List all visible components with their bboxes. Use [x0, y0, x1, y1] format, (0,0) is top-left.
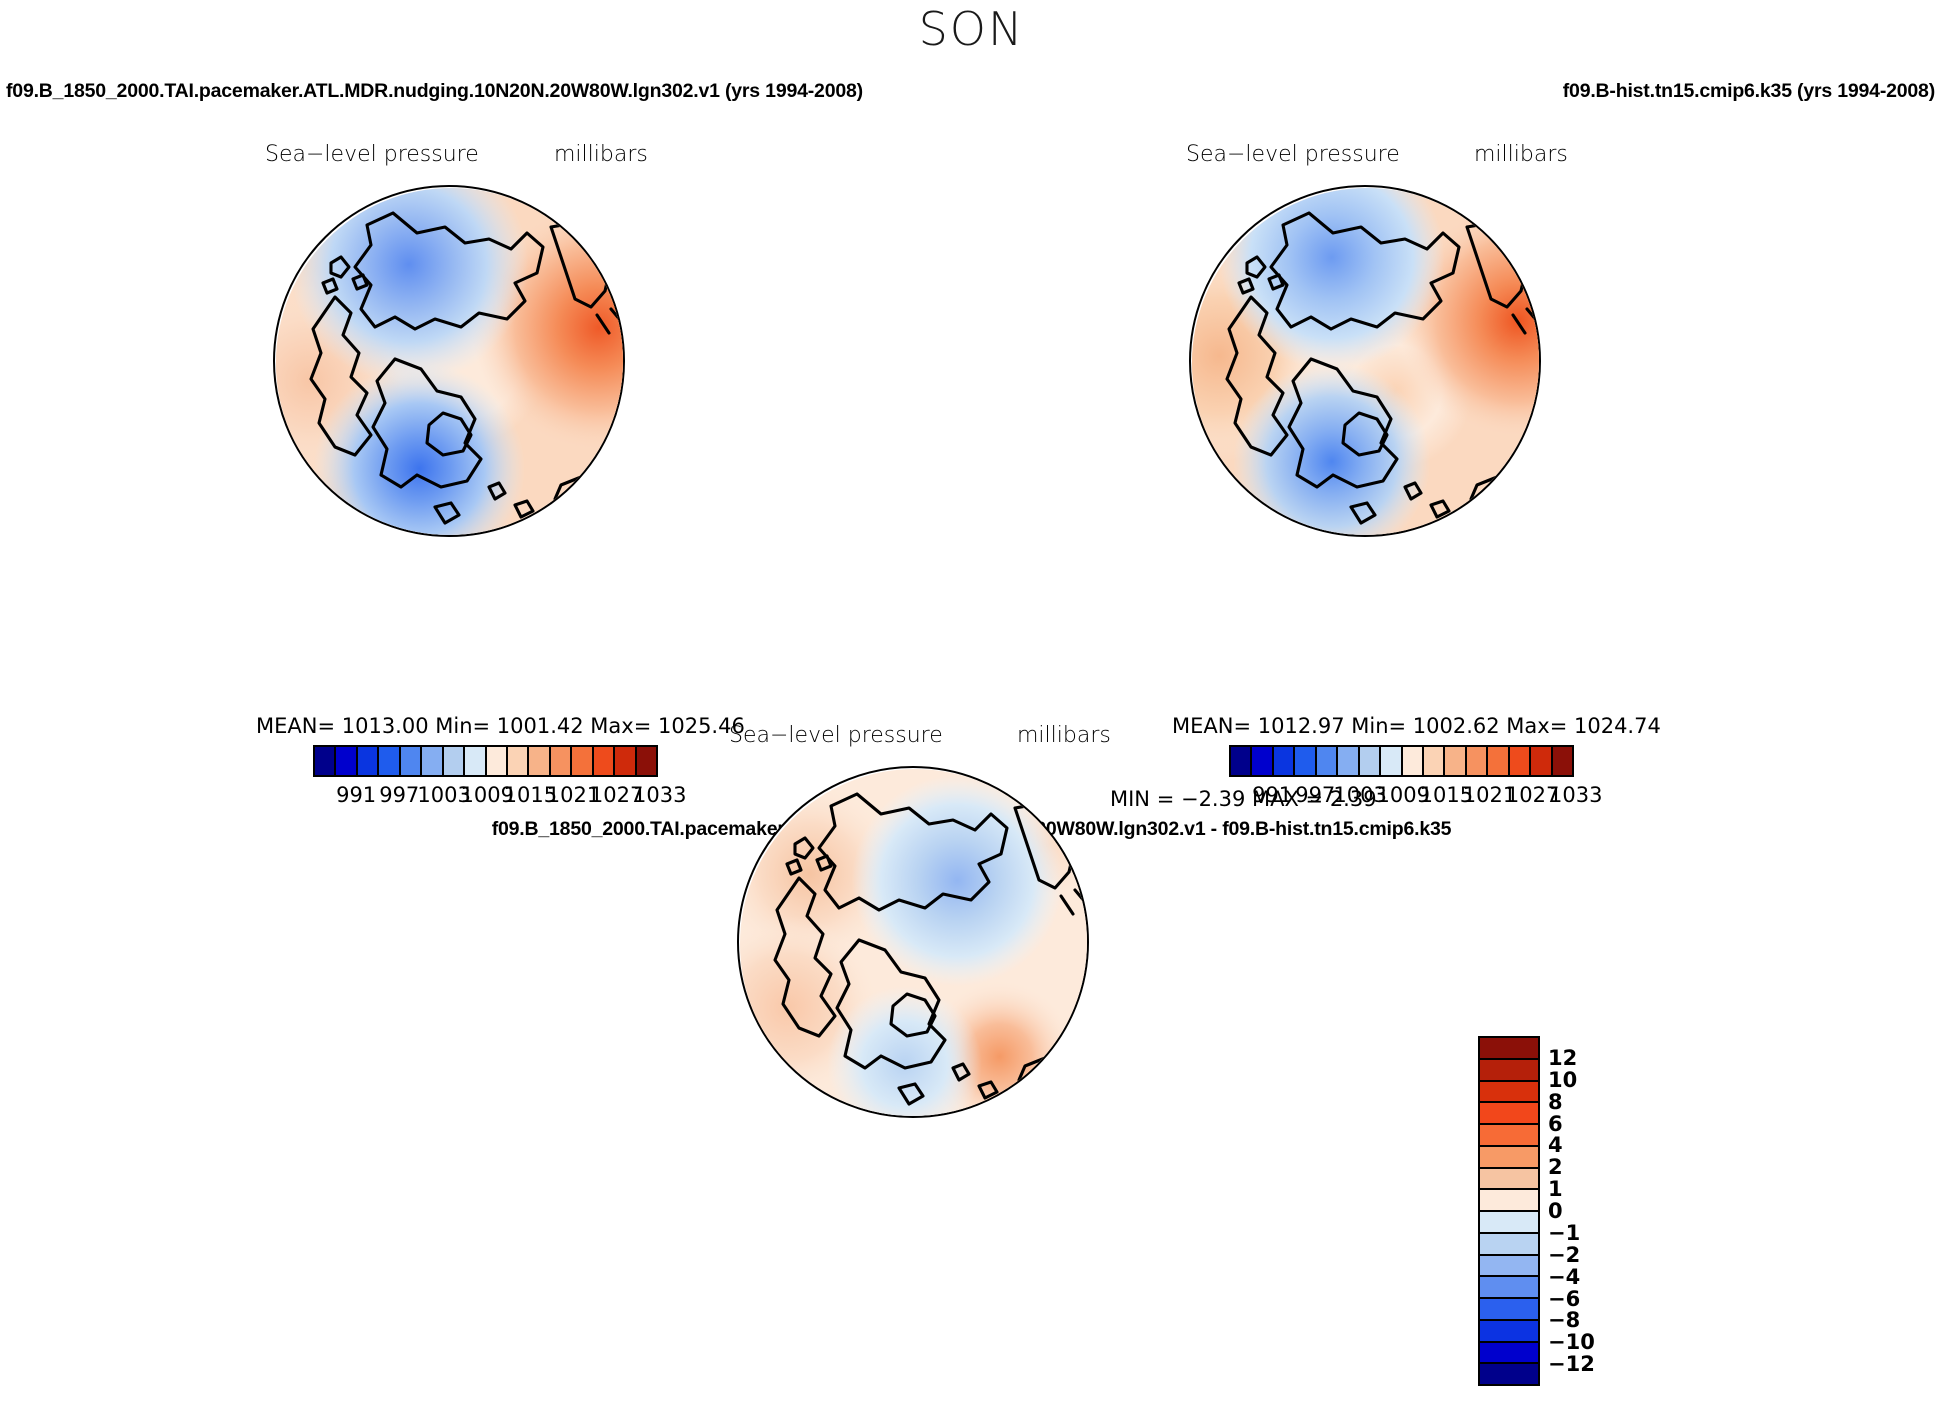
colorbar-cell: [1274, 747, 1295, 775]
colorbar-cell: [315, 747, 336, 775]
colorbar-cell: [358, 747, 379, 775]
colorbar-tick-label: 4: [1548, 1133, 1563, 1157]
colorbar-cell: [572, 747, 593, 775]
colorbar-cell: [1295, 747, 1316, 775]
colorbar-cell: [1338, 747, 1359, 775]
colorbar-tick-label: 1: [1548, 1177, 1563, 1201]
right-panel-title: f09.B-hist.tn15.cmip6.k35 (yrs 1994-2008…: [1563, 80, 1935, 103]
right-polar-map[interactable]: [1189, 185, 1541, 537]
colorbar-tick-label: 8: [1548, 1090, 1563, 1114]
season-title: SON: [0, 2, 1943, 56]
diff-stats-line: MIN = −2.39 MAX = 2.39: [1110, 787, 1377, 811]
colorbar-cell: [594, 747, 615, 775]
diff-units-label: millibars: [1017, 723, 1111, 748]
colorbar-cell: [1231, 747, 1252, 775]
colorbar-cell: [1403, 747, 1424, 775]
colorbar-cell: [1480, 1190, 1538, 1212]
colorbar-cell: [1488, 747, 1509, 775]
right-map-svg: [1191, 187, 1541, 537]
colorbar-cell: [487, 747, 508, 775]
colorbar-cell: [465, 747, 486, 775]
colorbar-cell: [401, 747, 422, 775]
left-polar-map[interactable]: [273, 185, 625, 537]
colorbar-cell: [1480, 1364, 1538, 1384]
colorbar-cell: [1480, 1103, 1538, 1125]
right-field-label: Sea−level pressure: [1186, 142, 1400, 167]
colorbar-cell: [508, 747, 529, 775]
colorbar-cell: [1480, 1321, 1538, 1343]
colorbar-cell: [444, 747, 465, 775]
colorbar-tick-label: 2: [1548, 1155, 1563, 1179]
diff-map-svg: [739, 768, 1089, 1118]
colorbar-tick-label: −1: [1548, 1221, 1580, 1245]
colorbar-tick-label: 10: [1548, 1068, 1577, 1092]
colorbar-cell: [1317, 747, 1338, 775]
colorbar-cell: [1381, 747, 1402, 775]
colorbar-cell: [1480, 1169, 1538, 1191]
colorbar-cell: [615, 747, 636, 775]
colorbar-cell: [1553, 747, 1572, 775]
colorbar-cell: [637, 747, 656, 775]
colorbar-cell: [1480, 1277, 1538, 1299]
left-stats-line: MEAN= 1013.00 Min= 1001.42 Max= 1025.46: [256, 714, 745, 738]
colorbar-cell: [1480, 1343, 1538, 1365]
colorbar-cell: [1480, 1234, 1538, 1256]
diff-colorbar-ticks: 1210864210−1−2−4−6−8−10−12: [1548, 1036, 1638, 1386]
colorbar-cell: [1480, 1147, 1538, 1169]
colorbar-cell: [1480, 1060, 1538, 1082]
colorbar-cell: [1480, 1299, 1538, 1321]
right-stats-line: MEAN= 1012.97 Min= 1002.62 Max= 1024.74: [1172, 714, 1661, 738]
colorbar-tick-label: 1033: [633, 783, 683, 807]
diff-polar-map[interactable]: [737, 766, 1089, 1118]
left-field-label: Sea−level pressure: [265, 142, 479, 167]
colorbar-tick-label: −4: [1548, 1265, 1580, 1289]
colorbar-cell: [529, 747, 550, 775]
colorbar-tick-label: 0: [1548, 1199, 1563, 1223]
colorbar-cell: [422, 747, 443, 775]
diff-colorbar[interactable]: [1478, 1036, 1540, 1386]
colorbar-cell: [379, 747, 400, 775]
right-units-label: millibars: [1474, 142, 1568, 167]
colorbar-cell: [1424, 747, 1445, 775]
colorbar-tick-label: −8: [1548, 1308, 1580, 1332]
colorbar-cell: [1480, 1082, 1538, 1104]
colorbar-cell: [1480, 1256, 1538, 1278]
colorbar-cell: [551, 747, 572, 775]
right-colorbar[interactable]: [1229, 745, 1574, 777]
diff-field-label: Sea−level pressure: [729, 723, 943, 748]
colorbar-tick-label: 12: [1548, 1046, 1577, 1070]
colorbar-cell: [1445, 747, 1466, 775]
colorbar-cell: [336, 747, 357, 775]
colorbar-cell: [1467, 747, 1488, 775]
colorbar-tick-label: −2: [1548, 1243, 1580, 1267]
colorbar-cell: [1510, 747, 1531, 775]
colorbar-cell: [1480, 1212, 1538, 1234]
left-units-label: millibars: [554, 142, 648, 167]
colorbar-cell: [1480, 1125, 1538, 1147]
colorbar-tick-label: 6: [1548, 1112, 1563, 1136]
colorbar-tick-label: −10: [1548, 1330, 1595, 1354]
colorbar-cell: [1531, 747, 1552, 775]
colorbar-cell: [1480, 1038, 1538, 1060]
colorbar-cell: [1252, 747, 1273, 775]
colorbar-tick-label: −6: [1548, 1287, 1580, 1311]
colorbar-tick-label: 1033: [1549, 783, 1599, 807]
left-colorbar[interactable]: [313, 745, 658, 777]
left-map-svg: [275, 187, 625, 537]
colorbar-cell: [1360, 747, 1381, 775]
colorbar-tick-label: −12: [1548, 1352, 1595, 1376]
left-panel-title: f09.B_1850_2000.TAI.pacemaker.ATL.MDR.nu…: [6, 80, 863, 103]
